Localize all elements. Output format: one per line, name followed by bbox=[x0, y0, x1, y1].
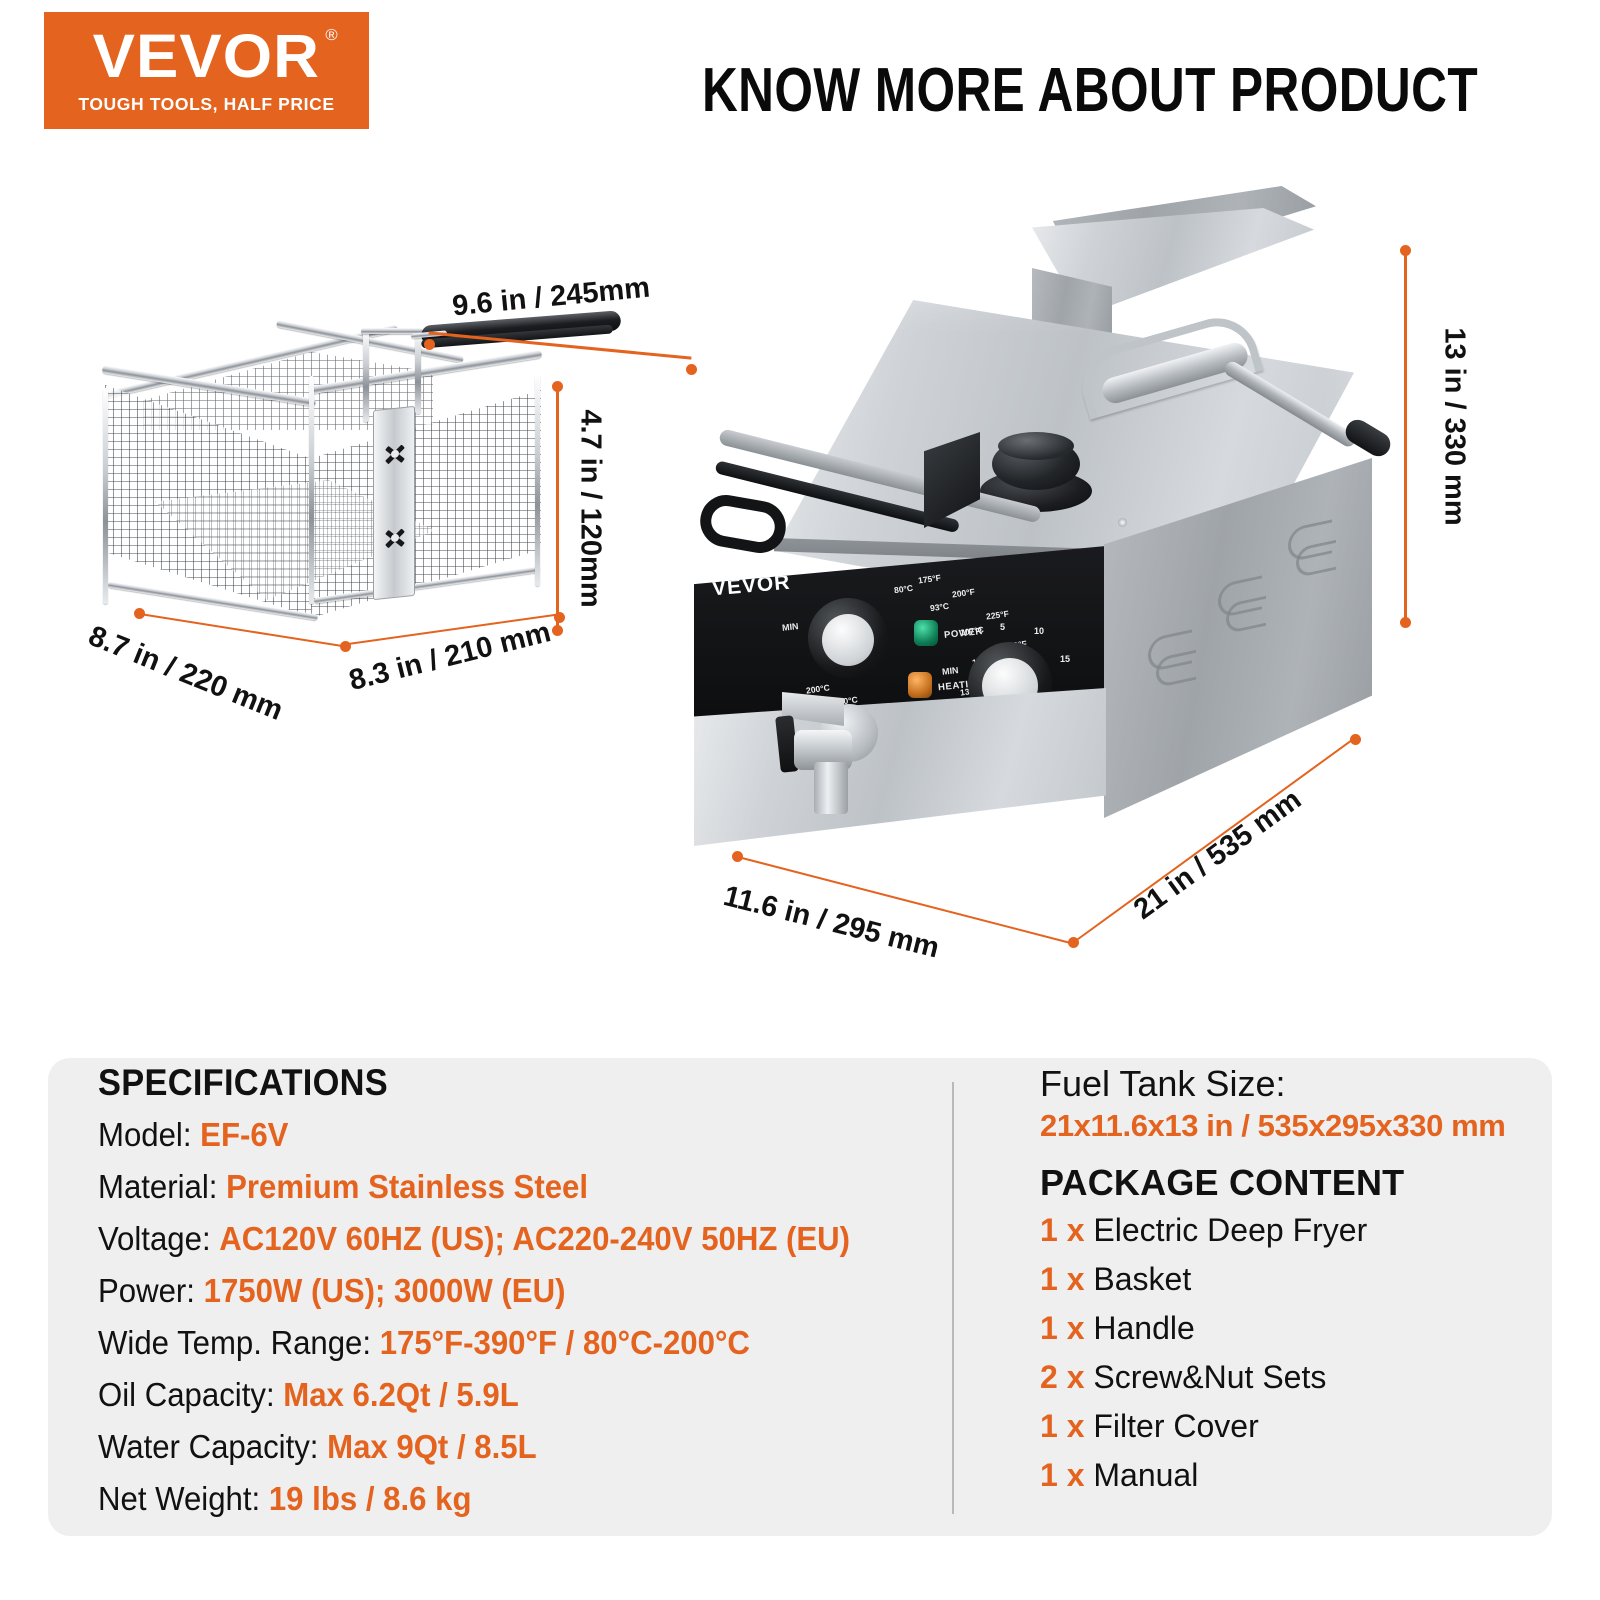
spec-label: Power: bbox=[98, 1273, 204, 1310]
spec-value: Max 9Qt / 8.5L bbox=[327, 1429, 537, 1466]
package-item: 2 x Screw&Nut Sets bbox=[1040, 1359, 1540, 1396]
brand-wordmark: VEVOR® bbox=[93, 26, 320, 87]
package-item-qty: 2 x bbox=[1040, 1359, 1084, 1395]
vevor-logo: VEVOR® TOUGH TOOLS, HALF PRICE bbox=[44, 12, 369, 129]
spec-label: Water Capacity: bbox=[98, 1429, 327, 1466]
basket-handle-mount-plate bbox=[373, 406, 415, 600]
package-item-qty: 1 x bbox=[1040, 1212, 1084, 1248]
package-item-name: Electric Deep Fryer bbox=[1093, 1212, 1367, 1248]
spec-row-material: Material: Premium Stainless Steel bbox=[98, 1169, 879, 1207]
spec-value: AC120V 60HZ (US); AC220-240V 50HZ (EU) bbox=[219, 1221, 850, 1258]
package-item: 1 x Handle bbox=[1040, 1310, 1540, 1347]
fuel-tank-size-label: Fuel Tank Size: bbox=[1040, 1062, 1540, 1106]
power-indicator-led bbox=[914, 620, 938, 646]
heating-indicator-led bbox=[908, 672, 932, 698]
screw-icon bbox=[384, 526, 406, 550]
package-content-title: PACKAGE CONTENT bbox=[1040, 1162, 1540, 1204]
spec-value: 175°F-390°F / 80°C-200°C bbox=[380, 1325, 750, 1362]
package-section: Fuel Tank Size: 21x11.6x13 in / 535x295x… bbox=[1040, 1062, 1540, 1506]
dim-label-basket-height: 4.7 in / 120mm bbox=[574, 409, 607, 607]
page-title: KNOW MORE ABOUT PRODUCT bbox=[710, 50, 1470, 130]
package-item-qty: 1 x bbox=[1040, 1408, 1084, 1444]
spec-label: Material: bbox=[98, 1169, 226, 1206]
spec-value: 19 lbs / 8.6 kg bbox=[269, 1481, 472, 1518]
spec-value: Premium Stainless Steel bbox=[226, 1169, 588, 1206]
spec-row-net-weight: Net Weight: 19 lbs / 8.6 kg bbox=[98, 1481, 879, 1519]
embossed-ridges bbox=[1104, 458, 1372, 818]
package-item-qty: 1 x bbox=[1040, 1457, 1084, 1493]
electric-deep-fryer-illustration: VEVOR MIN 175°F 200°F 225°F 250°F 275°F … bbox=[680, 180, 1380, 860]
spec-value: 1750W (US); 3000W (EU) bbox=[204, 1273, 566, 1310]
spec-row-temp-range: Wide Temp. Range: 175°F-390°F / 80°C-200… bbox=[98, 1325, 879, 1363]
temp-min-label: MIN bbox=[782, 621, 799, 633]
spec-label: Oil Capacity: bbox=[98, 1377, 283, 1414]
package-item-name: Basket bbox=[1093, 1261, 1191, 1297]
spec-label: Wide Temp. Range: bbox=[98, 1325, 380, 1362]
fryer-basket-illustration bbox=[95, 330, 575, 660]
spec-row-oil-capacity: Oil Capacity: Max 6.2Qt / 5.9L bbox=[98, 1377, 879, 1415]
package-item-name: Manual bbox=[1093, 1457, 1198, 1493]
package-item-name: Filter Cover bbox=[1093, 1408, 1258, 1444]
package-item: 1 x Manual bbox=[1040, 1457, 1540, 1494]
body-screw-icon bbox=[1118, 518, 1127, 527]
registered-trademark-icon: ® bbox=[326, 28, 339, 44]
brand-tagline: TOUGH TOOLS, HALF PRICE bbox=[78, 94, 334, 115]
package-item-qty: 1 x bbox=[1040, 1261, 1084, 1297]
panel-divider bbox=[952, 1082, 954, 1514]
package-item-name: Screw&Nut Sets bbox=[1093, 1359, 1326, 1395]
dim-label-fryer-height: 13 in / 330 mm bbox=[1438, 327, 1471, 525]
spec-value: Max 6.2Qt / 5.9L bbox=[283, 1377, 518, 1414]
package-item-name: Handle bbox=[1093, 1310, 1194, 1346]
specifications-section: SPECIFICATIONS Model: EF-6V Material: Pr… bbox=[98, 1062, 938, 1533]
spec-label: Voltage: bbox=[98, 1221, 219, 1258]
specifications-title: SPECIFICATIONS bbox=[98, 1062, 879, 1104]
spec-value: EF-6V bbox=[200, 1117, 288, 1154]
brand-name: VEVOR bbox=[93, 22, 320, 90]
spec-row-water-capacity: Water Capacity: Max 9Qt / 8.5L bbox=[98, 1429, 879, 1467]
package-item: 1 x Filter Cover bbox=[1040, 1408, 1540, 1445]
drain-valve[interactable] bbox=[768, 686, 900, 822]
spec-row-model: Model: EF-6V bbox=[98, 1117, 879, 1155]
dim-label-fryer-width: 11.6 in / 295 mm bbox=[720, 880, 942, 965]
package-item: 1 x Basket bbox=[1040, 1261, 1540, 1298]
screw-icon bbox=[384, 442, 406, 466]
package-item-qty: 1 x bbox=[1040, 1310, 1084, 1346]
spec-label: Model: bbox=[98, 1117, 200, 1154]
spec-row-voltage: Voltage: AC120V 60HZ (US); AC220-240V 50… bbox=[98, 1221, 879, 1259]
fuel-tank-size-value: 21x11.6x13 in / 535x295x330 mm bbox=[1040, 1108, 1540, 1144]
package-item: 1 x Electric Deep Fryer bbox=[1040, 1212, 1540, 1249]
spec-label: Net Weight: bbox=[98, 1481, 269, 1518]
spec-row-power: Power: 1750W (US); 3000W (EU) bbox=[98, 1273, 879, 1311]
